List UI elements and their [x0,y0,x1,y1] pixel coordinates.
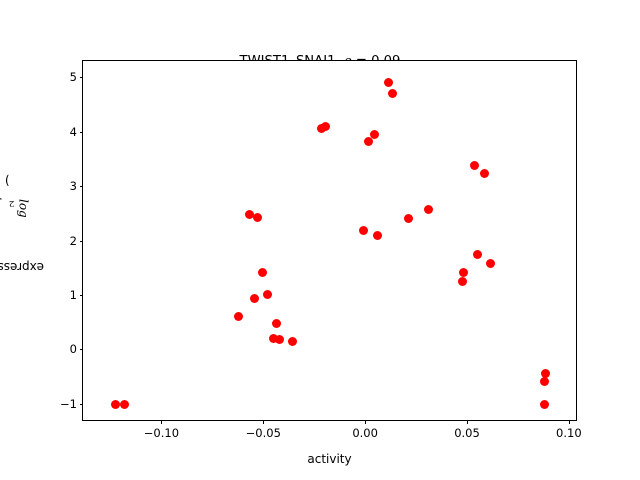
scatter-point [470,161,479,170]
y-axis-tick-label: 0 [70,342,77,356]
scatter-point [540,377,549,386]
scatter-point [473,250,482,259]
x-axis-label: activity [82,452,577,466]
x-axis-tick-mark [365,420,366,424]
x-axis-tick-mark [161,420,162,424]
log-subscript: 2 [9,198,15,208]
y-axis-tick-mark [80,404,84,405]
y-axis-tick-mark [80,241,84,242]
y-axis-tick-label: −1 [60,397,77,411]
x-axis-tick-label: 0.05 [454,426,480,440]
scatter-point [111,400,120,409]
y-axis-tick-label: 3 [70,179,77,193]
y-axis-label-math: log2tpm [0,198,33,215]
scatter-point [258,268,267,277]
y-axis-tick-label: 5 [70,70,77,84]
scatter-point [120,400,129,409]
y-axis-tick-label: 4 [70,125,77,139]
scatter-point [388,89,397,98]
scatter-point [263,290,272,299]
tpm-text: tpm [0,196,4,220]
scatter-plot-figure: TWIST1_SNAI1, ρ = 0.09 hg38_v1_chr7_-_19… [0,0,640,480]
scatter-point [321,122,330,131]
y-axis-tick-mark [80,186,84,187]
plot-data-area [83,61,576,420]
x-axis-tick-label: 0.10 [556,426,582,440]
y-axis-tick-mark [80,295,84,296]
y-axis-label: expression (log2tpm) [0,60,18,421]
scatter-point [480,169,489,178]
x-axis-tick-label: −0.10 [144,426,179,440]
y-axis-tick-mark [80,77,84,78]
y-axis-label-suffix: ) [5,173,10,187]
scatter-point [459,268,468,277]
scatter-point [404,214,413,223]
x-axis-tick-label: −0.05 [246,426,281,440]
scatter-point [359,226,368,235]
y-axis-tick-label: 1 [70,288,77,302]
y-axis-label-prefix: expression ( [0,260,44,274]
scatter-point [424,205,433,214]
scatter-point [384,78,393,87]
x-axis-tick-mark [569,420,570,424]
log-base: log [17,199,31,218]
x-axis-tick-label: 0.00 [352,426,378,440]
scatter-point [275,335,284,344]
scatter-point [250,294,259,303]
y-axis-tick-label: 2 [70,234,77,248]
scatter-point [486,259,495,268]
scatter-point [253,213,262,222]
scatter-point [288,337,297,346]
y-axis-tick-mark [80,132,84,133]
scatter-point [272,319,281,328]
plot-axes-frame: −0.10−0.050.000.050.10−1012345 [82,60,577,421]
scatter-point [540,400,549,409]
y-axis-tick-mark [80,349,84,350]
scatter-point [234,312,243,321]
x-axis-tick-mark [263,420,264,424]
scatter-point [373,231,382,240]
scatter-point [370,130,379,139]
x-axis-tick-mark [467,420,468,424]
scatter-point [458,277,467,286]
